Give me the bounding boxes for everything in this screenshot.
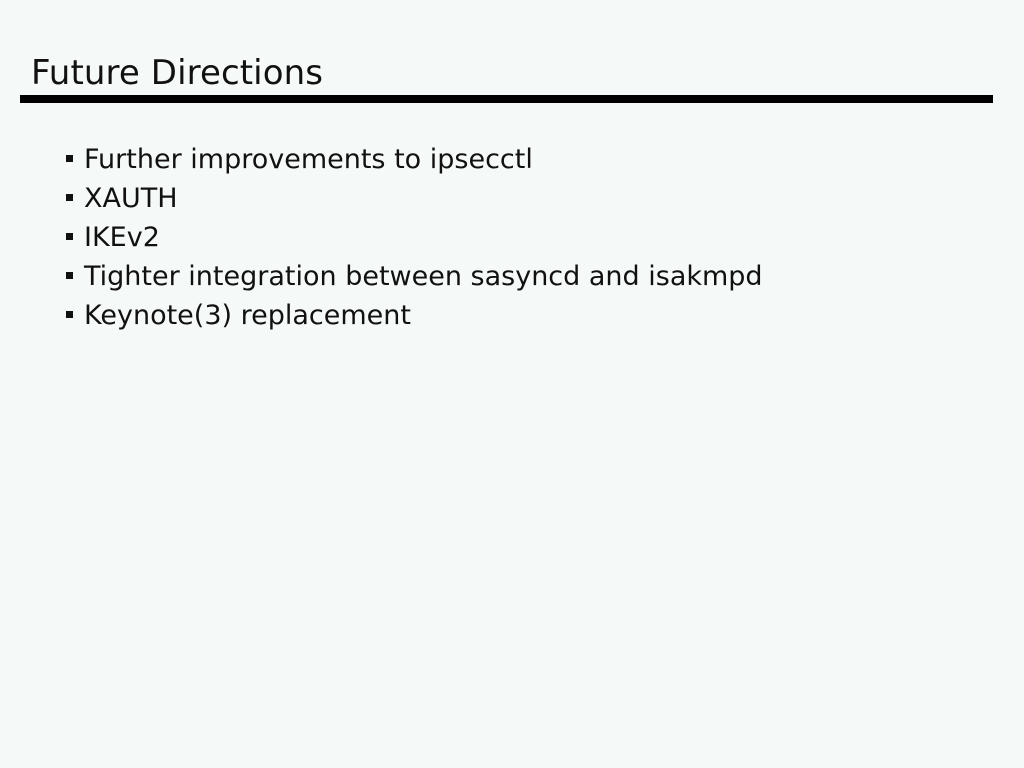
list-item: Tighter integration between sasyncd and …	[66, 260, 763, 299]
square-bullet-icon	[66, 194, 73, 201]
list-item-label: Keynote(3) replacement	[84, 299, 411, 332]
title-divider	[20, 95, 993, 103]
list-item: IKEv2	[66, 221, 763, 260]
presentation-slide: Future Directions Further improvements t…	[0, 0, 1024, 768]
square-bullet-icon	[66, 233, 73, 240]
square-bullet-icon	[66, 311, 73, 318]
list-item: XAUTH	[66, 182, 763, 221]
list-item: Further improvements to ipsecctl	[66, 143, 763, 182]
square-bullet-icon	[66, 155, 73, 162]
square-bullet-icon	[66, 272, 73, 279]
list-item-label: IKEv2	[84, 221, 160, 254]
list-item: Keynote(3) replacement	[66, 299, 763, 338]
bullet-list: Further improvements to ipsecctl XAUTH I…	[66, 143, 763, 338]
list-item-label: XAUTH	[84, 182, 178, 215]
page-title: Future Directions	[31, 53, 323, 93]
list-item-label: Tighter integration between sasyncd and …	[84, 260, 763, 293]
list-item-label: Further improvements to ipsecctl	[84, 143, 533, 176]
